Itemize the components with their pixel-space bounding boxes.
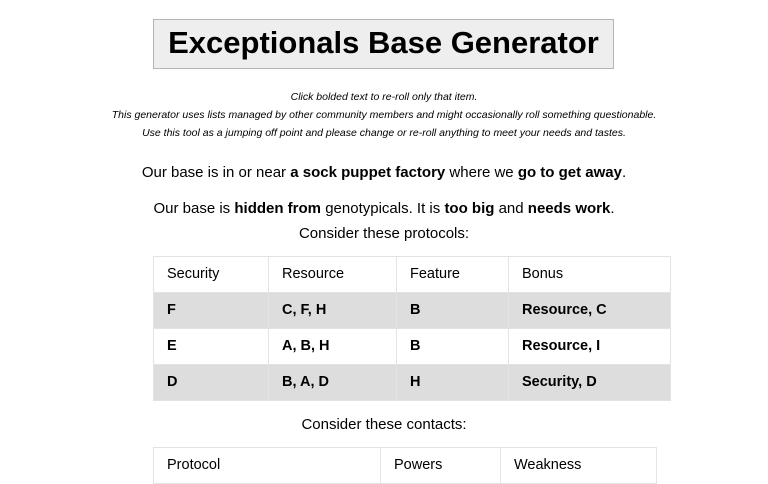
cell-feature[interactable]: H [397,365,509,401]
cell-security[interactable]: F [154,293,269,329]
cell-security[interactable]: D [154,365,269,401]
sentence1-text-2: where we [445,164,518,181]
cell-feature[interactable]: B [397,329,509,365]
cell-bonus[interactable]: Security, D [509,365,671,401]
contacts-table-head: Protocol Powers Weakness [154,448,657,484]
column-header-powers: Powers [381,448,501,484]
contacts-caption: Consider these contacts: [0,416,768,434]
sentence2-text-4: . [610,200,614,217]
sentence2-text-2: genotypicals. It is [321,200,444,217]
column-header-resource: Resource [269,257,397,293]
protocols-caption: Consider these protocols: [0,225,768,243]
cell-resource[interactable]: B, A, D [269,365,397,401]
protocols-table-head: Security Resource Feature Bonus [154,257,671,293]
reroll-base-size[interactable]: too big [444,200,494,217]
table-row: D B, A, D H Security, D [154,365,671,401]
base-condition-sentence: Our base is hidden from genotypicals. It… [0,191,768,227]
instruction-notes: Click bolded text to re-roll only that i… [0,88,768,142]
cell-security[interactable]: E [154,329,269,365]
note-line-2: This generator uses lists managed by oth… [0,106,768,124]
table-row: F C, F, H B Resource, C [154,293,671,329]
page-title: Exceptionals Base Generator [154,20,613,68]
sentence1-text-3: . [622,164,626,181]
sentence2-text-3: and [494,200,527,217]
base-location-sentence: Our base is in or near a sock puppet fac… [0,155,768,191]
sentence1-text-1: Our base is in or near [142,164,290,181]
cell-resource[interactable]: C, F, H [269,293,397,329]
column-header-feature: Feature [397,257,509,293]
table-header-row: Protocol Powers Weakness [154,448,657,484]
reroll-base-flaw[interactable]: needs work [528,200,611,217]
table-row: E A, B, H B Resource, I [154,329,671,365]
column-header-security: Security [154,257,269,293]
cell-feature[interactable]: B [397,293,509,329]
protocols-table: Security Resource Feature Bonus F C, F, … [153,256,671,401]
generated-sentences: Our base is in or near a sock puppet fac… [0,155,768,227]
sentence2-text-1: Our base is [153,200,234,217]
generator-page: Exceptionals Base Generator Click bolded… [0,0,768,480]
note-line-3: Use this tool as a jumping off point and… [0,124,768,142]
cell-bonus[interactable]: Resource, C [509,293,671,329]
table-header-row: Security Resource Feature Bonus [154,257,671,293]
column-header-protocol: Protocol [154,448,381,484]
reroll-base-concealment[interactable]: hidden from [234,200,321,217]
reroll-base-location[interactable]: a sock puppet factory [290,164,445,181]
column-header-weakness: Weakness [501,448,657,484]
contacts-table: Protocol Powers Weakness [153,447,657,484]
page-title-box: Exceptionals Base Generator [153,19,614,69]
reroll-base-purpose[interactable]: go to get away [518,164,622,181]
cell-resource[interactable]: A, B, H [269,329,397,365]
note-line-1: Click bolded text to re-roll only that i… [0,88,768,106]
protocols-table-body: F C, F, H B Resource, C E A, B, H B Reso… [154,293,671,401]
cell-bonus[interactable]: Resource, I [509,329,671,365]
column-header-bonus: Bonus [509,257,671,293]
